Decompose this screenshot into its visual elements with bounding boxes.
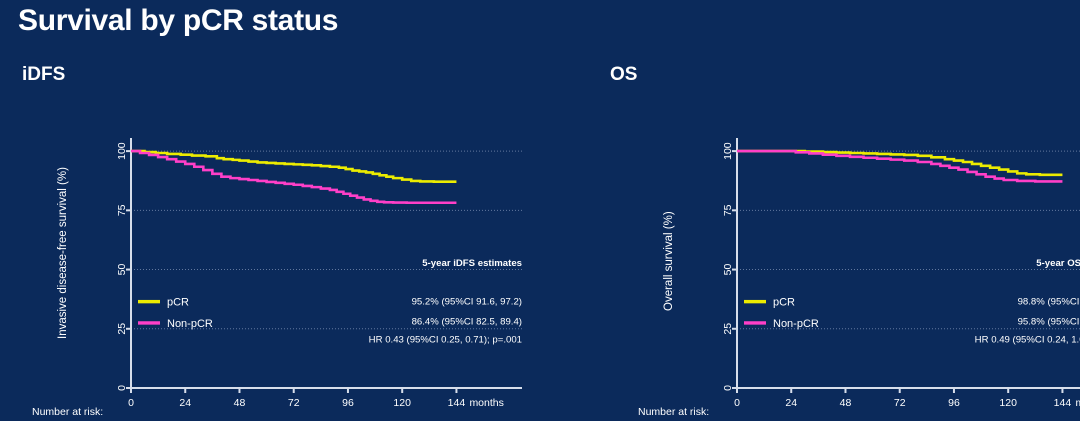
stats-estimate-row: 95.2% (95%CI 91.6, 97.2)	[412, 296, 522, 307]
km-curve-non-pcr	[131, 151, 456, 203]
stats-hazard-ratio: HR 0.49 (95%CI 0.24, 1.00); p=.052	[975, 334, 1080, 345]
stats-estimate-row: 86.4% (95%CI 82.5, 89.4)	[412, 316, 522, 327]
stats-heading: 5-year iDFS estimates	[422, 258, 522, 269]
x-tick-label: 120	[999, 397, 1017, 409]
stats-hazard-ratio: HR 0.43 (95%CI 0.25, 0.71); p=.001	[369, 334, 522, 345]
legend-label-non-pcr: Non-pCR	[167, 318, 213, 330]
legend-swatch-pcr	[138, 300, 160, 303]
legend-swatch-non-pcr	[138, 321, 160, 324]
x-tick-label: 144	[448, 397, 466, 409]
y-tick-label: 100	[116, 142, 128, 160]
y-tick-label: 0	[722, 385, 734, 391]
panel-idfs: iDFS Invasive disease-free survival (%) …	[0, 58, 540, 418]
x-tick-label: 24	[785, 397, 797, 409]
x-tick-label: 72	[894, 397, 906, 409]
x-tick-label: 120	[393, 397, 411, 409]
stats-estimate-row: 98.8% (95%CI 96.3, 99.6)	[1018, 296, 1080, 307]
panel-os: OS Overall survival (%) 0255075100024487…	[540, 58, 1080, 418]
slide-root: Survival by pCR status iDFS Invasive dis…	[0, 0, 1080, 421]
km-curve-pcr	[131, 151, 456, 182]
stats-heading: 5-year OS estimates	[1036, 258, 1080, 269]
legend-label-pcr: pCR	[773, 297, 795, 309]
x-tick-label: 24	[179, 397, 191, 409]
y-tick-label: 0	[116, 385, 128, 391]
y-tick-label: 25	[116, 323, 128, 335]
y-tick-label: 75	[722, 204, 734, 216]
stats-estimate-row: 95.8% (95%CI 93.2, 97.4)	[1018, 316, 1080, 327]
x-tick-label: 144	[1054, 397, 1072, 409]
km-curve-pcr	[737, 151, 1062, 175]
y-tick-label: 25	[722, 323, 734, 335]
legend-label-pcr: pCR	[167, 297, 189, 309]
x-tick-label: 96	[342, 397, 354, 409]
y-tick-label: 75	[116, 204, 128, 216]
x-tick-label: 48	[234, 397, 246, 409]
risk-title-idfs: Number at risk:	[32, 406, 103, 418]
x-axis-unit-label: months	[1075, 397, 1080, 409]
x-axis-unit-label: months	[469, 397, 503, 409]
x-tick-label: 96	[948, 397, 960, 409]
y-tick-label: 50	[116, 264, 128, 276]
legend-label-non-pcr: Non-pCR	[773, 318, 819, 330]
x-tick-label: 48	[840, 397, 852, 409]
x-tick-label: 0	[734, 397, 740, 409]
y-tick-label: 50	[722, 264, 734, 276]
legend-swatch-pcr	[744, 300, 766, 303]
x-tick-label: 0	[128, 397, 134, 409]
risk-title-os: Number at risk:	[638, 406, 709, 418]
chart-idfs: 0255075100024487296120144monthspCRNon-pC…	[0, 58, 540, 418]
page-title: Survival by pCR status	[18, 4, 338, 38]
legend-swatch-non-pcr	[744, 321, 766, 324]
x-tick-label: 72	[288, 397, 300, 409]
y-tick-label: 100	[722, 142, 734, 160]
chart-os: 0255075100024487296120144monthspCRNon-pC…	[540, 58, 1080, 418]
